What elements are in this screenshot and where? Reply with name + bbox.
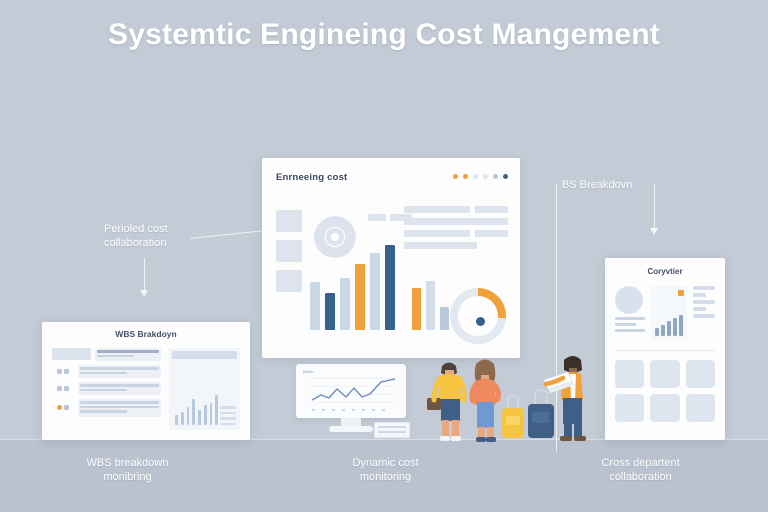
monitor-base [329, 426, 373, 432]
overview-text-lines [693, 286, 715, 340]
overview-card-title: Coryvtier [605, 267, 725, 276]
bracket-right-stem [654, 192, 655, 230]
wbs-line [97, 350, 159, 353]
wbs-chart-panel [169, 348, 240, 430]
text-line-4 [404, 230, 470, 237]
status-dot-1 [453, 174, 458, 179]
wbs-legend-lines [220, 406, 236, 425]
bar2-2 [426, 281, 435, 330]
overview-card[interactable]: Coryvtier [605, 258, 725, 440]
avatar-circle [615, 286, 643, 314]
wbs-bar-4 [192, 399, 195, 425]
avatar-line-2 [615, 323, 636, 326]
bar2-3 [440, 307, 449, 330]
ov-bar-3 [667, 321, 671, 336]
ov-bar-4 [673, 318, 677, 336]
wbs-card-title: WBS Brakdoyn [42, 329, 250, 339]
main-dashboard-panel[interactable]: Enrneeing cost [262, 158, 520, 358]
bar-5 [370, 253, 380, 330]
text-row-2 [404, 230, 508, 237]
page-title: Systemtic Engineing Cost Mangement [0, 18, 768, 52]
wbs-line [80, 372, 127, 375]
text-line-3 [404, 218, 508, 225]
callout-period-line1: Perioled cost [104, 222, 168, 236]
caption-3-line1: Cross departent [513, 456, 768, 470]
wbs-breakdown-card[interactable]: WBS Brakdoyn [42, 322, 250, 440]
arrow-down-icon-wbs [650, 228, 658, 235]
pie-center-dot [476, 317, 485, 326]
wbs-list [52, 348, 161, 430]
avatar [615, 286, 645, 340]
monitor-line-chart [296, 364, 406, 418]
avatar-line-1 [615, 317, 645, 320]
pie-chart [450, 288, 506, 344]
bracket-left-tick [556, 184, 557, 192]
tile-1[interactable] [615, 360, 644, 388]
wbs-bar-5 [198, 410, 201, 425]
wbs-bar-1 [175, 415, 178, 425]
wbs-row-header[interactable] [52, 348, 161, 361]
keyboard [374, 422, 410, 438]
pie-icon [52, 399, 74, 417]
bracket-right-tick [654, 184, 655, 192]
wbs-block-header [95, 348, 161, 361]
wbs-bar-6 [204, 405, 207, 425]
status-dot-3 [473, 174, 478, 179]
bar-2 [325, 293, 335, 330]
wbs-line [80, 367, 159, 370]
wbs-bar-7 [210, 403, 213, 425]
connector-period-down [144, 258, 145, 292]
caption-1-line2: monibring [0, 470, 255, 484]
wbs-bar-2 [181, 412, 184, 425]
wbs-line [80, 384, 159, 387]
main-panel-status-dots [453, 174, 508, 179]
person-yellow-shirt [427, 363, 464, 442]
bar-4 [355, 264, 365, 330]
monitor-screen: MSun [296, 364, 406, 418]
caption-2-line1: Dynamic cost [258, 456, 513, 470]
wbs-block-item [78, 365, 161, 378]
caption-dynamic-cost-monitoring: Dynamic cost monitoring [258, 456, 513, 484]
tile-2[interactable] [650, 360, 679, 388]
caption-2-line2: monitoring [258, 470, 513, 484]
illustration-canvas: Systemtic Engineing Cost Mangement Perio… [0, 0, 768, 512]
wbs-chip [52, 348, 91, 360]
text-line-1 [404, 206, 470, 213]
tile-6[interactable] [686, 394, 715, 422]
spark-marker-icon [678, 290, 684, 296]
overview-mini-chart [651, 286, 687, 340]
tag-1 [368, 214, 386, 221]
wbs-line [97, 355, 134, 358]
callout-wbs-label: BS Breakdovn [562, 179, 632, 191]
wbs-block-item [78, 382, 161, 395]
main-bar-chart [310, 238, 395, 330]
caption-cross-department-collaboration: Cross departent collaboration [513, 456, 768, 484]
wbs-row-item[interactable] [52, 365, 161, 378]
callout-period-line2: collaboration [104, 236, 168, 250]
ov-bar-5 [679, 315, 683, 336]
ov-bar-2 [661, 325, 665, 336]
bar-6 [385, 245, 395, 330]
secondary-bar-chart [412, 270, 449, 330]
wbs-bar-8 [215, 395, 218, 425]
bar-1 [310, 282, 320, 330]
status-dot-5 [493, 174, 498, 179]
tile-3[interactable] [686, 360, 715, 388]
status-dot-4 [483, 174, 488, 179]
avatar-line-3 [615, 329, 645, 332]
status-dot-2 [463, 174, 468, 179]
wbs-bar-chart [175, 391, 218, 425]
callout-wbs-breakdown: BS Breakdovn [562, 178, 632, 192]
connector-period-to-panel [190, 230, 262, 239]
text-row-1 [404, 206, 508, 213]
desktop-monitor: MSun [296, 364, 406, 434]
wbs-line [80, 410, 127, 413]
main-panel-text-lines [404, 206, 508, 249]
caption-wbs-breakdown-monitoring: WBS breakdown monibring [0, 456, 255, 484]
left-block-2 [276, 240, 302, 262]
callout-period-cost-collaboration: Perioled cost collaboration [104, 222, 168, 250]
wbs-row-item[interactable] [52, 382, 161, 395]
wbs-line [80, 401, 159, 404]
grid-icon [52, 382, 74, 395]
wbs-line [80, 406, 159, 409]
status-dot-6 [503, 174, 508, 179]
wbs-row-item[interactable] [52, 399, 161, 417]
tile-4[interactable] [615, 394, 644, 422]
arrow-down-icon-period [140, 290, 148, 297]
left-block-3 [276, 270, 302, 292]
wbs-bar-3 [187, 407, 190, 425]
text-line-6 [404, 242, 477, 249]
overview-tile-grid [615, 360, 715, 422]
person-orange-vest [528, 356, 586, 441]
overview-top-row [615, 286, 715, 340]
left-block-1 [276, 210, 302, 232]
bar-3 [340, 278, 350, 330]
grid-icon [52, 365, 74, 378]
people-illustration [424, 342, 604, 446]
main-panel-header: Enrneeing cost [276, 172, 347, 183]
text-line-2 [475, 206, 508, 213]
wbs-chart-header [172, 351, 237, 359]
person-orange-top [472, 360, 524, 443]
wbs-line [80, 389, 127, 392]
main-panel-left-blocks [276, 210, 302, 292]
wbs-block-item [78, 399, 161, 417]
tile-5[interactable] [650, 394, 679, 422]
wbs-card-body [52, 348, 240, 430]
ov-bar-1 [655, 328, 659, 336]
divider [615, 350, 715, 351]
bar2-1 [412, 288, 421, 330]
overview-mini-bars [655, 314, 683, 336]
text-line-5 [475, 230, 508, 237]
caption-3-line2: collaboration [513, 470, 768, 484]
caption-1-line1: WBS breakdown [0, 456, 255, 470]
